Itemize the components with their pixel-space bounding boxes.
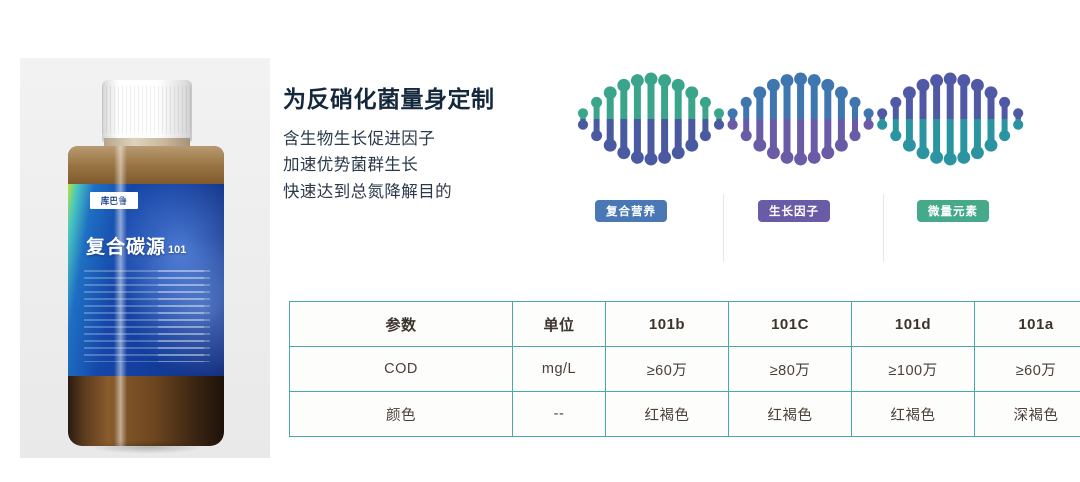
cap-ridges <box>102 86 192 134</box>
table-header-cell: 101b <box>606 302 729 347</box>
bottle-cap <box>102 80 192 142</box>
table-cell: 红褐色 <box>606 392 729 437</box>
product-photo: 库巴鲁 复合碳源101 <box>20 58 270 458</box>
feature-line-2: 加速优势菌群生长 <box>283 152 563 179</box>
page-title: 为反硝化菌量身定制 <box>283 86 563 114</box>
badge-trace-elements[interactable]: 微量元素 <box>917 200 989 222</box>
table-header-cell: 参数 <box>290 302 513 347</box>
table-cell: ≥100万 <box>852 347 975 392</box>
dna-helix-icon <box>575 57 1030 177</box>
category-badges: 复合营养 生长因子 微量元素 <box>575 200 1030 224</box>
bottle-highlight <box>114 146 127 446</box>
label-fineprint-right <box>158 270 210 362</box>
bottle-label: 库巴鲁 复合碳源101 <box>68 184 224 376</box>
table-cell: 深褐色 <box>975 392 1080 437</box>
table-cell: -- <box>513 392 606 437</box>
table-header-cell: 单位 <box>513 302 606 347</box>
table-cell: ≥80万 <box>729 347 852 392</box>
bottle-shadow <box>88 440 206 454</box>
table-header-row: 参数单位101b101C101d101a <box>290 302 1080 347</box>
badge-compound-nutrition[interactable]: 复合营养 <box>595 200 667 222</box>
table-cell: mg/L <box>513 347 606 392</box>
table-cell: 红褐色 <box>729 392 852 437</box>
headline-block: 为反硝化菌量身定制 含生物生长促进因子 加速优势菌群生长 快速达到总氮降解目的 <box>283 86 563 206</box>
table-cell: 颜色 <box>290 392 513 437</box>
label-product-model: 101 <box>168 244 186 256</box>
liquid-surface <box>68 146 224 188</box>
badge-divider-2 <box>883 194 884 262</box>
table-header-cell: 101a <box>975 302 1080 347</box>
label-product-title: 复合碳源101 <box>86 232 186 259</box>
table-header-cell: 101d <box>852 302 975 347</box>
badge-growth-factor[interactable]: 生长因子 <box>758 200 830 222</box>
table-cell: ≥60万 <box>606 347 729 392</box>
table-cell: ≥60万 <box>975 347 1080 392</box>
bottle-body: 库巴鲁 复合碳源101 <box>68 146 224 446</box>
table-cell: COD <box>290 347 513 392</box>
table-row: 颜色--红褐色红褐色红褐色深褐色 <box>290 392 1080 437</box>
spec-table: 参数单位101b101C101d101aCODmg/L≥60万≥80万≥100万… <box>289 301 1080 437</box>
table-cell: 红褐色 <box>852 392 975 437</box>
table-header-cell: 101C <box>729 302 852 347</box>
feature-line-1: 含生物生长促进因子 <box>283 126 563 153</box>
feature-line-3: 快速达到总氮降解目的 <box>283 179 563 206</box>
badge-divider-1 <box>723 194 724 262</box>
product-bottle: 库巴鲁 复合碳源101 <box>62 80 230 446</box>
table-row: CODmg/L≥60万≥80万≥100万≥60万 <box>290 347 1080 392</box>
